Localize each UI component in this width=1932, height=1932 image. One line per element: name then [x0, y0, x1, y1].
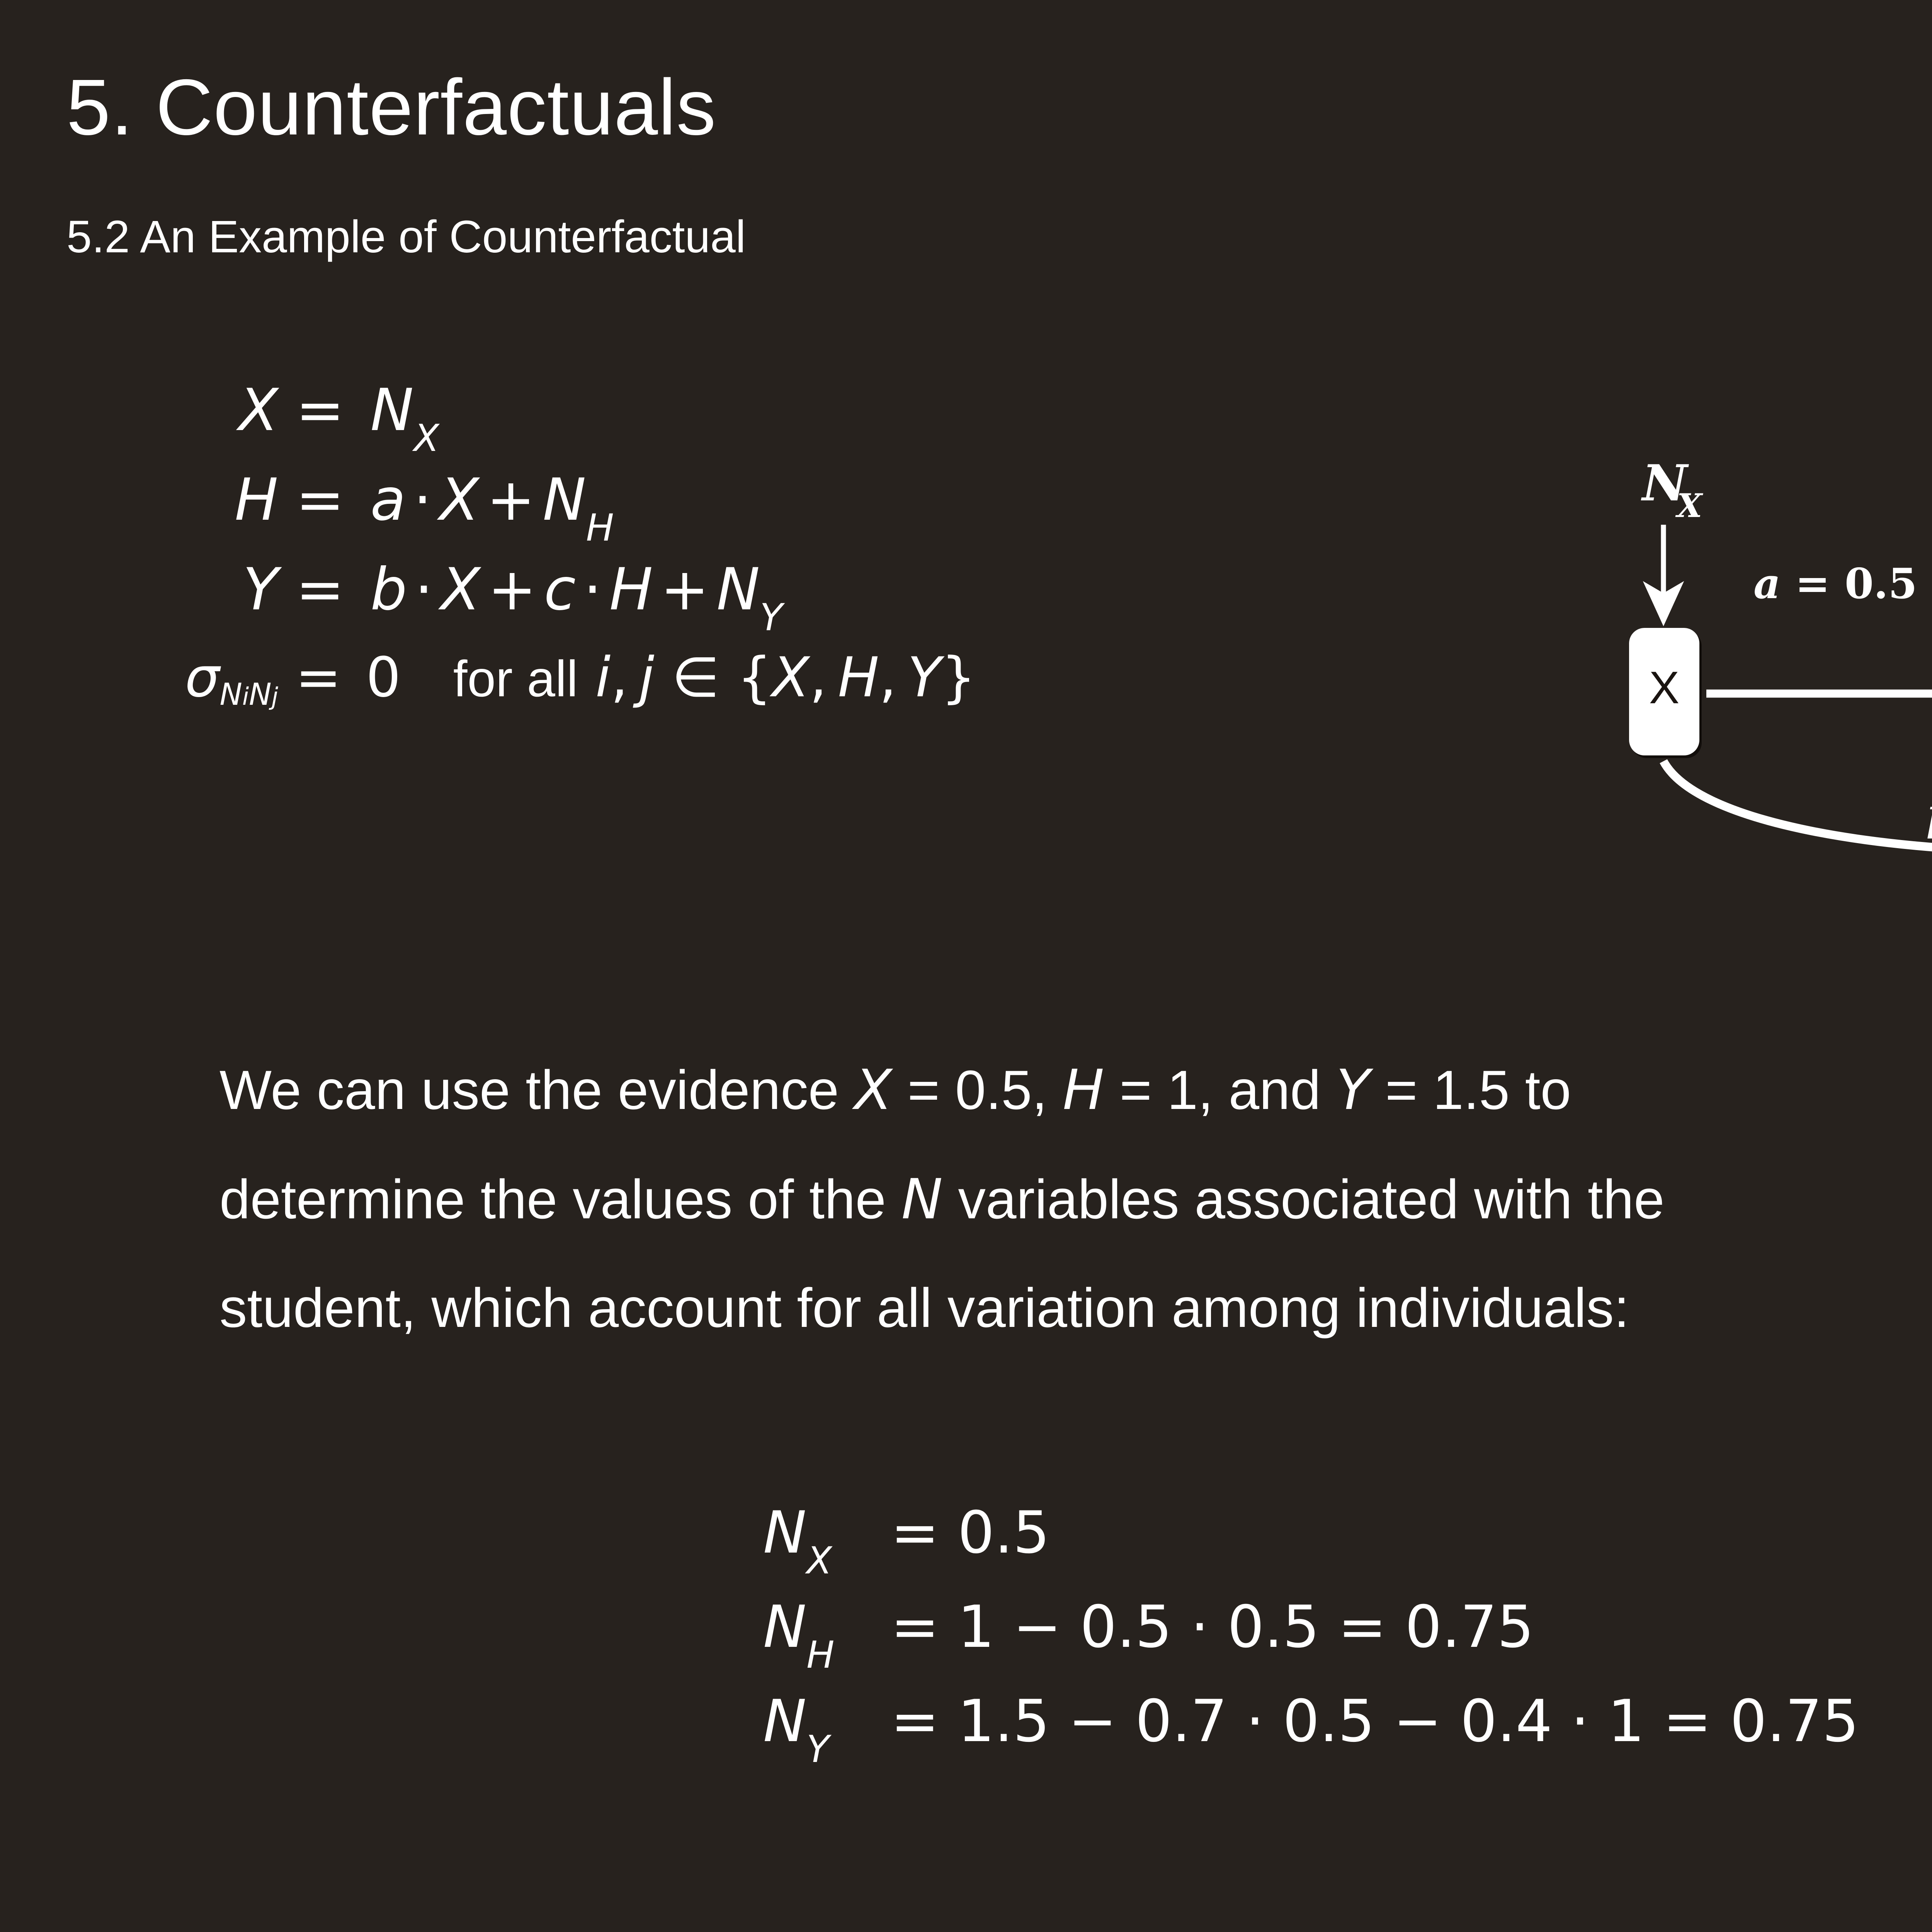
- result-nx-rhs: = 0.5: [891, 1499, 1050, 1566]
- result-ny-lhs: NY: [763, 1688, 891, 1762]
- equation-x: X = NX: [0, 377, 1352, 451]
- result-nh: NH = 1 − 0.5 · 0.5 = 0.75: [763, 1594, 1859, 1668]
- equation-y-rhs: = b·X+c·H+NY: [278, 556, 782, 630]
- slide-root: 5. Counterfactuals 5.2 An Example of Cou…: [0, 0, 1932, 1932]
- equation-sigma: σNiNj = 0 for all i, j ∈ {X, H, Y}: [0, 646, 1352, 709]
- result-ny: NY = 1.5 − 0.7 · 0.5 − 0.4 · 1 = 0.75: [763, 1688, 1859, 1762]
- result-nx-lhs: NX: [763, 1499, 891, 1573]
- body-line-3: student, which account for all variation…: [219, 1277, 1629, 1339]
- body-line-2: determine the values of the N variables …: [219, 1169, 1665, 1230]
- diagram-node-x-label: X: [1649, 662, 1680, 713]
- causal-diagram: X H Y N X N H N Y: [1565, 417, 1932, 912]
- diagram-node-x: X: [1629, 628, 1699, 755]
- equation-x-lhs: X: [0, 377, 278, 444]
- page-title: 5. Counterfactuals: [66, 62, 716, 153]
- edge-label-a: a = 0.5: [1753, 560, 1917, 608]
- equation-h-rhs: = a·X+NH: [278, 466, 614, 541]
- body-paragraph: We can use the evidence X = 0.5, H = 1, …: [219, 1036, 1932, 1363]
- edge-x-y-curved: [1663, 761, 1932, 852]
- structural-equations-block: X = NX H = a·X+NH Y = b·X+c·H+NY σNiNj =…: [0, 377, 1352, 725]
- result-nh-rhs: = 1 − 0.5 · 0.5 = 0.75: [891, 1594, 1534, 1661]
- edge-label-b: b = 0.7: [1926, 800, 1932, 849]
- svg-text:X: X: [1675, 486, 1703, 525]
- noise-label-nx: N X: [1641, 454, 1703, 525]
- page-subtitle: 5.2 An Example of Counterfactual: [66, 211, 746, 263]
- equation-sigma-rhs: = 0 for all i, j ∈ {X, H, Y}: [278, 646, 976, 709]
- body-line-1: We can use the evidence X = 0.5, H = 1, …: [219, 1060, 1571, 1121]
- equation-sigma-lhs: σNiNj: [0, 646, 278, 709]
- equation-y: Y = b·X+c·H+NY: [0, 556, 1352, 630]
- result-ny-rhs: = 1.5 − 0.7 · 0.5 − 0.4 · 1 = 0.75: [891, 1688, 1859, 1755]
- equation-h: H = a·X+NH: [0, 466, 1352, 541]
- noise-value-results: NX = 0.5 NH = 1 − 0.5 · 0.5 = 0.75 NY = …: [763, 1499, 1859, 1782]
- equation-y-lhs: Y: [0, 556, 278, 623]
- equation-x-rhs: = NX: [278, 377, 439, 451]
- result-nh-lhs: NH: [763, 1594, 891, 1668]
- equation-h-lhs: H: [0, 466, 278, 534]
- result-nx: NX = 0.5: [763, 1499, 1859, 1573]
